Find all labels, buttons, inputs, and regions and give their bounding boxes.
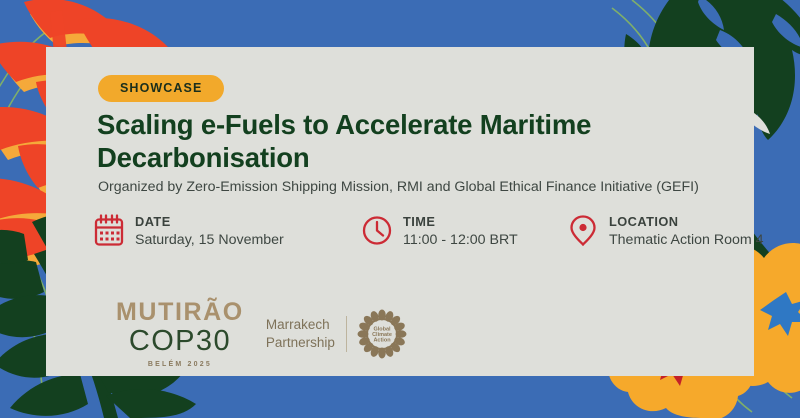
detail-date-value: Saturday, 15 November bbox=[135, 230, 284, 251]
detail-time-label: TIME bbox=[403, 215, 518, 230]
cop30-mutirao-text: MUTIRÃO bbox=[116, 300, 244, 325]
detail-date-text: DATE Saturday, 15 November bbox=[135, 212, 284, 250]
detail-time-value: 11:00 - 12:00 BRT bbox=[403, 230, 518, 251]
logo-row: MUTIRÃO COP30 BELÉM 2025 Marrakech Partn… bbox=[116, 299, 407, 369]
detail-time-text: TIME 11:00 - 12:00 BRT bbox=[403, 212, 518, 250]
marrakech-partnership-logo: Marrakech Partnership bbox=[266, 309, 407, 359]
gca-line-3: Action bbox=[373, 338, 391, 344]
event-card: SHOWCASE Scaling e-Fuels to Accelerate M… bbox=[46, 47, 754, 376]
global-climate-action-emblem: Global Climate Action bbox=[357, 309, 407, 359]
detail-location-value: Thematic Action Room 4 bbox=[609, 230, 764, 251]
cop30-belem-text: BELÉM 2025 bbox=[116, 361, 244, 368]
calendar-icon bbox=[94, 214, 124, 247]
page-title: Scaling e-Fuels to Accelerate Maritime D… bbox=[97, 109, 737, 174]
marrakech-partnership-text: Marrakech Partnership bbox=[266, 316, 347, 352]
location-pin-icon bbox=[568, 214, 598, 247]
title-line-1: Scaling e-Fuels to Accelerate Maritime bbox=[97, 109, 737, 142]
marrakech-line-1: Marrakech bbox=[266, 316, 335, 334]
marrakech-line-2: Partnership bbox=[266, 334, 335, 352]
detail-location-text: LOCATION Thematic Action Room 4 bbox=[609, 212, 764, 250]
organizer-text: Organized by Zero-Emission Shipping Miss… bbox=[98, 178, 748, 196]
cop30-logo: MUTIRÃO COP30 BELÉM 2025 bbox=[116, 300, 244, 368]
clock-icon bbox=[362, 214, 392, 247]
detail-date-label: DATE bbox=[135, 215, 284, 230]
detail-date: DATE Saturday, 15 November bbox=[94, 212, 284, 250]
detail-location-label: LOCATION bbox=[609, 215, 764, 230]
showcase-badge: SHOWCASE bbox=[98, 75, 224, 102]
detail-location: LOCATION Thematic Action Room 4 bbox=[568, 212, 764, 250]
event-details: DATE Saturday, 15 November TIME 11:00 - … bbox=[94, 212, 744, 264]
cop30-text: COP30 bbox=[116, 326, 244, 357]
title-line-2: Decarbonisation bbox=[97, 142, 737, 175]
detail-time: TIME 11:00 - 12:00 BRT bbox=[362, 212, 518, 250]
event-poster: SHOWCASE Scaling e-Fuels to Accelerate M… bbox=[0, 0, 800, 418]
